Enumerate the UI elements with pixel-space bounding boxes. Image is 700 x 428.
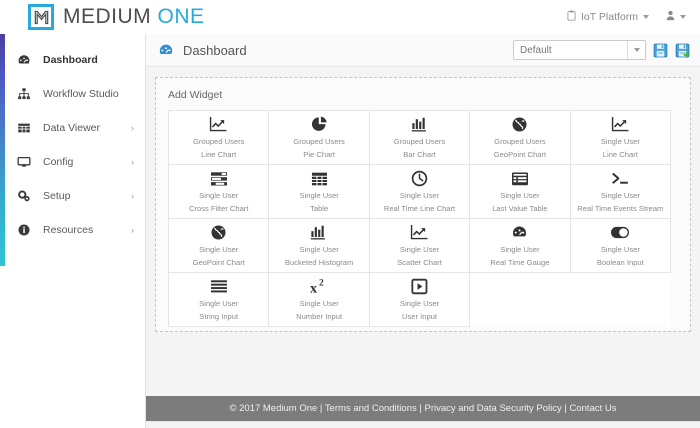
brand-name-primary: MEDIUM bbox=[63, 5, 151, 28]
brand-logo[interactable]: MEDIUM ONE bbox=[28, 4, 205, 30]
widget-single-user-string-input[interactable]: Single User String Input bbox=[169, 273, 269, 327]
widget-scope: Single User bbox=[601, 191, 640, 201]
widget-name: Boolean Input bbox=[597, 258, 644, 268]
widget-single-user-real-time-line-chart[interactable]: Single User Real Time Line Chart bbox=[370, 165, 470, 219]
widget-grid-filler bbox=[571, 273, 671, 327]
widget-name: Line Chart bbox=[603, 150, 638, 160]
widget-name: Scatter Chart bbox=[397, 258, 442, 268]
widget-name: GeoPoint Chart bbox=[494, 150, 546, 160]
sidebar: Dashboard Workflow Studio bbox=[0, 34, 146, 428]
sidebar-item-setup[interactable]: Setup › bbox=[0, 179, 145, 213]
page-header: Dashboard Default bbox=[146, 34, 700, 67]
widget-scope: Single User bbox=[299, 299, 338, 309]
widget-scope: Single User bbox=[400, 245, 439, 255]
superscript-icon: x 2 bbox=[309, 277, 329, 296]
terminal-icon bbox=[611, 169, 630, 188]
sitemap-icon bbox=[17, 87, 34, 101]
brand-name: MEDIUM ONE bbox=[63, 5, 205, 29]
widget-name: Pie Chart bbox=[303, 150, 335, 160]
widget-single-user-boolean-input[interactable]: Single User Boolean Input bbox=[571, 219, 671, 273]
widget-name: Real Time Line Chart bbox=[384, 204, 455, 214]
widget-grouped-users-pie-chart[interactable]: Grouped Users Pie Chart bbox=[269, 111, 369, 165]
widget-scope: Single User bbox=[299, 191, 338, 201]
widget-name: Real Time Gauge bbox=[490, 258, 549, 268]
add-widget-panel: Add Widget Grouped bbox=[155, 77, 691, 332]
medium-one-m-mark-icon bbox=[28, 4, 54, 30]
widget-scope: Single User bbox=[500, 245, 539, 255]
widget-scope: Grouped Users bbox=[494, 137, 546, 147]
user-menu[interactable] bbox=[666, 10, 686, 24]
save-as-button[interactable] bbox=[675, 43, 690, 58]
widget-scope: Single User bbox=[400, 191, 439, 201]
widget-name: Bar Chart bbox=[403, 150, 436, 160]
widget-scope: Single User bbox=[400, 299, 439, 309]
info-circle-icon bbox=[17, 223, 34, 237]
sidebar-chevron: › bbox=[131, 158, 134, 167]
add-widget-title: Add Widget bbox=[168, 89, 678, 101]
gears-icon bbox=[17, 189, 34, 203]
widget-name: Last Value Table bbox=[492, 204, 547, 214]
widget-name: Bucketed Histogram bbox=[285, 258, 353, 268]
bar-chart-icon bbox=[310, 223, 328, 242]
line-chart-icon bbox=[410, 223, 429, 242]
widget-row: Single User String Input x 2 Single User bbox=[169, 273, 671, 327]
widget-scope: Grouped Users bbox=[193, 137, 245, 147]
sidebar-item-dashboard[interactable]: Dashboard bbox=[0, 43, 145, 77]
widget-name: Cross Filter Chart bbox=[189, 204, 249, 214]
pie-chart-icon bbox=[311, 115, 328, 134]
table-grid-icon bbox=[17, 121, 34, 135]
select-divider bbox=[627, 41, 628, 59]
widget-name: Number Input bbox=[296, 312, 342, 322]
application-root: MEDIUM ONE IoT Platform bbox=[0, 0, 700, 428]
top-bar-right: IoT Platform bbox=[567, 10, 686, 24]
clipboard-icon bbox=[567, 10, 576, 24]
widget-single-user-geopoint-chart[interactable]: Single User GeoPoint Chart bbox=[169, 219, 269, 273]
widget-grid-filler bbox=[470, 273, 570, 327]
widget-grid: Grouped Users Line Chart bbox=[168, 110, 671, 327]
dashboard-gauge-icon bbox=[17, 53, 34, 67]
widget-grouped-users-geopoint-chart[interactable]: Grouped Users GeoPoint Chart bbox=[470, 111, 570, 165]
widget-scope: Single User bbox=[199, 299, 238, 309]
line-chart-icon bbox=[611, 115, 630, 134]
chevron-down-icon bbox=[634, 48, 640, 52]
sidebar-item-label: Resources bbox=[43, 224, 93, 236]
widget-scope: Grouped Users bbox=[293, 137, 345, 147]
play-box-icon bbox=[411, 277, 428, 296]
sidebar-item-config[interactable]: Config › bbox=[0, 145, 145, 179]
widget-single-user-scatter-chart[interactable]: Single User Scatter Chart bbox=[370, 219, 470, 273]
widget-scope: Single User bbox=[601, 245, 640, 255]
globe-icon bbox=[210, 223, 227, 242]
toggle-on-icon bbox=[610, 223, 630, 242]
widget-grouped-users-bar-chart[interactable]: Grouped Users Bar Chart bbox=[370, 111, 470, 165]
bars-icon bbox=[210, 277, 228, 296]
platform-selector-label: IoT Platform bbox=[581, 11, 638, 23]
widget-single-user-bucketed-histogram[interactable]: Single User Bucketed Histogram bbox=[269, 219, 369, 273]
widget-single-user-real-time-events-stream[interactable]: Single User Real Time Events Stream bbox=[571, 165, 671, 219]
panel-area: Add Widget Grouped bbox=[146, 67, 700, 332]
platform-selector[interactable]: IoT Platform bbox=[567, 10, 649, 24]
save-button[interactable] bbox=[653, 43, 668, 58]
monitor-icon bbox=[17, 155, 34, 169]
dashboard-select-value: Default bbox=[520, 45, 552, 56]
gauge-icon bbox=[511, 223, 528, 242]
sidebar-chevron: › bbox=[131, 124, 134, 133]
chevron-down-icon bbox=[643, 15, 649, 19]
widget-single-user-real-time-gauge[interactable]: Single User Real Time Gauge bbox=[470, 219, 570, 273]
bar-chart-icon bbox=[411, 115, 429, 134]
widget-scope: Single User bbox=[199, 245, 238, 255]
brand-name-secondary: ONE bbox=[158, 5, 205, 28]
widget-scope: Single User bbox=[199, 191, 238, 201]
widget-single-user-cross-filter-chart[interactable]: Single User Cross Filter Chart bbox=[169, 165, 269, 219]
widget-name: GeoPoint Chart bbox=[193, 258, 245, 268]
widget-single-user-line-chart[interactable]: Single User Line Chart bbox=[571, 111, 671, 165]
widget-name: String Input bbox=[199, 312, 238, 322]
widget-scope: Single User bbox=[299, 245, 338, 255]
sidebar-nav: Dashboard Workflow Studio bbox=[0, 34, 145, 247]
widget-scope: Single User bbox=[601, 137, 640, 147]
dashboard-select[interactable]: Default bbox=[513, 40, 646, 60]
svg-text:2: 2 bbox=[319, 279, 324, 289]
page-title: Dashboard bbox=[183, 43, 247, 58]
sidebar-gradient-strip bbox=[0, 34, 5, 266]
widget-row: Single User Cross Filter Chart Single Us… bbox=[169, 165, 671, 219]
widget-row: Single User GeoPoint Chart bbox=[169, 219, 671, 273]
chevron-down-icon bbox=[680, 15, 686, 19]
table-grid-icon bbox=[311, 169, 328, 188]
clock-icon bbox=[411, 169, 428, 188]
widget-single-user-user-input[interactable]: Single User User Input bbox=[370, 273, 470, 327]
sidebar-item-label: Workflow Studio bbox=[43, 88, 119, 100]
top-bar: MEDIUM ONE IoT Platform bbox=[0, 0, 700, 34]
sidebar-chevron: › bbox=[131, 192, 134, 201]
line-chart-icon bbox=[209, 115, 228, 134]
footer: © 2017 Medium One | Terms and Conditions… bbox=[146, 396, 700, 421]
dashboard-gauge-icon bbox=[158, 42, 174, 58]
sidebar-item-label: Setup bbox=[43, 190, 70, 202]
sidebar-item-label: Config bbox=[43, 156, 73, 168]
page-header-actions: Default bbox=[513, 40, 690, 60]
sidebar-item-workflow-studio[interactable]: Workflow Studio bbox=[0, 77, 145, 111]
sidebar-item-resources[interactable]: Resources › bbox=[0, 213, 145, 247]
widget-name: Line Chart bbox=[201, 150, 236, 160]
widget-single-user-last-value-table[interactable]: Single User Last Value Table bbox=[470, 165, 570, 219]
widget-single-user-number-input[interactable]: x 2 Single User Number Input bbox=[269, 273, 369, 327]
user-icon bbox=[666, 10, 675, 24]
sliders-icon bbox=[210, 169, 228, 188]
list-panel-icon bbox=[511, 169, 529, 188]
footer-text[interactable]: © 2017 Medium One | Terms and Conditions… bbox=[229, 403, 616, 414]
widget-single-user-table[interactable]: Single User Table bbox=[269, 165, 369, 219]
sidebar-item-label: Dashboard bbox=[43, 54, 98, 66]
widget-scope: Grouped Users bbox=[394, 137, 446, 147]
widget-grouped-users-line-chart[interactable]: Grouped Users Line Chart bbox=[169, 111, 269, 165]
widget-name: User Input bbox=[402, 312, 437, 322]
content-area: Dashboard Default bbox=[146, 34, 700, 428]
widget-name: Real Time Events Stream bbox=[577, 204, 663, 214]
sidebar-item-data-viewer[interactable]: Data Viewer › bbox=[0, 111, 145, 145]
widget-name: Table bbox=[310, 204, 328, 214]
bottom-edge bbox=[146, 421, 700, 428]
sidebar-item-label: Data Viewer bbox=[43, 122, 100, 134]
globe-icon bbox=[511, 115, 528, 134]
widget-row: Grouped Users Line Chart bbox=[169, 111, 671, 165]
svg-text:x: x bbox=[310, 281, 317, 295]
widget-scope: Single User bbox=[500, 191, 539, 201]
sidebar-chevron: › bbox=[131, 226, 134, 235]
